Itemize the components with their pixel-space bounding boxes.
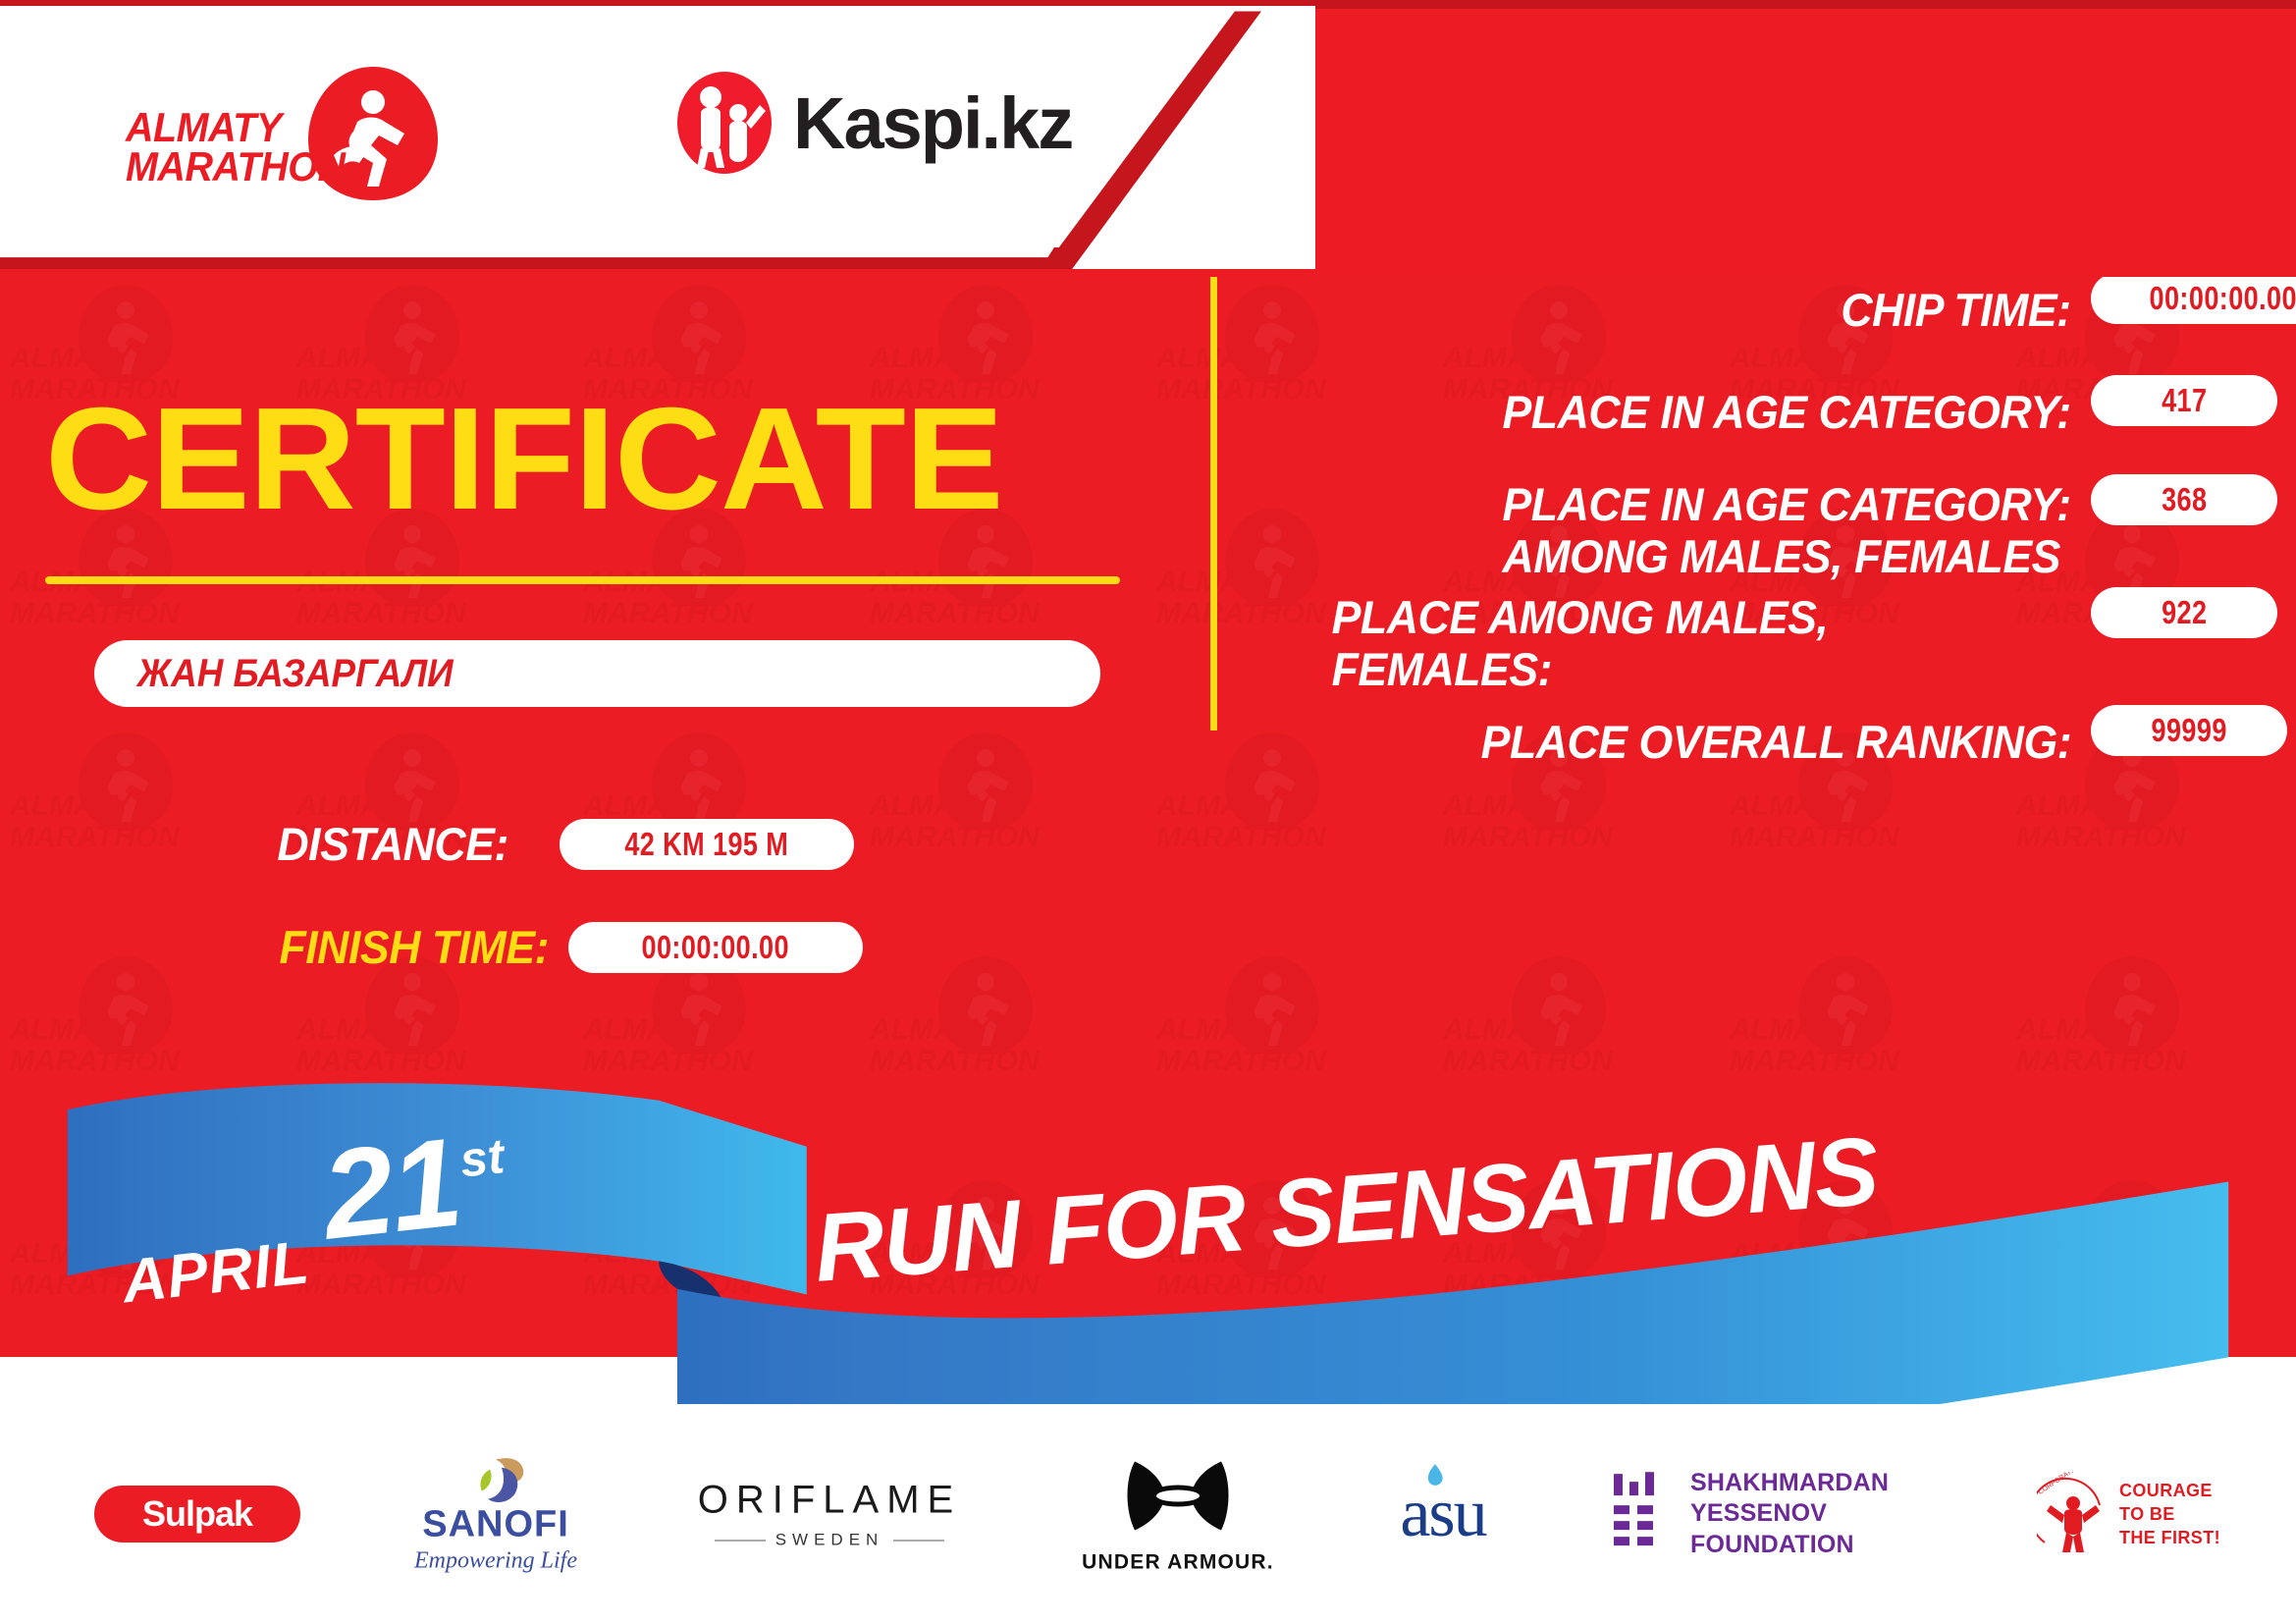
row-distance: DISTANCE: 42 KM 195 M: [265, 817, 854, 871]
sanofi-icon: [398, 1454, 594, 1505]
place-among-gender-value: 922: [2162, 594, 2207, 631]
distance-label: DISTANCE:: [277, 817, 508, 871]
title-underline: [45, 576, 1120, 584]
chip-time-value-pill: 00:00:00.00: [2091, 277, 2296, 324]
yessenov-wordmark: SHAKHMARDAN YESSENOV FOUNDATION: [1690, 1468, 1983, 1560]
chip-time-value: 00:00:00.00: [2150, 280, 2296, 317]
oriflame-rule-right: [893, 1540, 944, 1541]
place-age-category-gender-value-pill: 368: [2091, 474, 2277, 525]
sanofi-wordmark: SANOFI: [398, 1505, 594, 1546]
place-age-category-value-pill: 417: [2091, 375, 2277, 426]
row-place-among-gender: PLACE AMONG MALES, FEMALES: 922: [1306, 591, 2071, 709]
logo-line-marathon: MARATHON: [126, 147, 319, 187]
courage-child-icon: CORPORATE FUND: [2037, 1472, 2109, 1556]
finish-time-label: FINISH TIME:: [279, 920, 549, 974]
asu-drop-icon: [1419, 1462, 1449, 1488]
row-place-age-category: PLACE IN AGE CATEGORY: 417: [1306, 379, 2071, 438]
sanofi-tagline: Empowering Life: [398, 1547, 594, 1574]
yessenov-icon: [1610, 1472, 1667, 1556]
sulpak-wordmark: Sulpak: [142, 1493, 252, 1535]
distance-value: 42 KM 195 M: [624, 826, 788, 863]
place-age-category-value: 417: [2162, 382, 2207, 419]
courage-wordmark: COURAGE TO BE THE FIRST!: [2119, 1479, 2220, 1550]
sponsor-courage-fund: CORPORATE FUND COURAGE TO BE THE FIRST!: [2037, 1472, 2233, 1556]
kaspi-figures-icon: [677, 72, 772, 174]
place-age-category-label: PLACE IN AGE CATEGORY:: [1503, 386, 2071, 438]
certificate-page: ALMATY MARATHON Kaspi.kz: [0, 0, 2296, 1624]
event-day-ordinal: st: [457, 1127, 507, 1188]
place-overall-label: PLACE OVERALL RANKING:: [1481, 716, 2071, 768]
place-overall-value-pill: 99999: [2091, 705, 2287, 756]
sponsor-sulpak: Sulpak: [94, 1486, 300, 1543]
place-among-gender-value-pill: 922: [2091, 587, 2277, 638]
oriflame-wordmark: ORIFLAME: [692, 1479, 967, 1523]
participant-name-field: ЖАН БАЗАРГАЛИ: [94, 640, 1100, 707]
under-armour-icon: [1117, 1454, 1239, 1539]
oriflame-sub-text: SWEDEN: [775, 1531, 884, 1550]
oriflame-rule-left: [715, 1540, 766, 1541]
chip-time-label: CHIP TIME:: [1842, 284, 2071, 336]
row-finish-time: FINISH TIME: 00:00:00.00: [265, 920, 863, 974]
logo-line-almaty: ALMATY: [126, 108, 319, 147]
sponsor-asu: asu: [1364, 1480, 1522, 1548]
asu-wordmark: asu: [1364, 1480, 1522, 1548]
sponsor-oriflame: ORIFLAME SWEDEN: [692, 1479, 967, 1550]
sponsor-sanofi: SANOFI Empowering Life: [398, 1454, 594, 1575]
place-age-category-gender-label: PLACE IN AGE CATEGORY: AMONG MALES, FEMA…: [1503, 478, 2071, 582]
page-title: CERTIFICATE: [45, 387, 1003, 532]
row-chip-time: CHIP TIME: 00:00:00.00: [1306, 277, 2071, 336]
distance-value-pill: 42 KM 195 M: [560, 819, 854, 870]
almaty-marathon-logo: ALMATY MARATHON: [126, 61, 450, 218]
vertical-divider: [1210, 277, 1217, 731]
sponsor-bar: Sulpak SANOFI Empowering Life ORIFLAME S…: [0, 1404, 2296, 1624]
finish-time-value-pill: 00:00:00.00: [568, 922, 863, 973]
participant-name-value: ЖАН БАЗАРГАЛИ: [137, 652, 454, 696]
place-among-gender-label: PLACE AMONG MALES, FEMALES:: [1332, 591, 1829, 695]
row-place-age-category-gender: PLACE IN AGE CATEGORY: AMONG MALES, FEMA…: [1306, 478, 2071, 596]
sponsor-under-armour: UNDER ARMOUR.: [1075, 1454, 1281, 1575]
sponsor-yessenov-foundation: SHAKHMARDAN YESSENOV FOUNDATION: [1610, 1468, 1983, 1560]
place-age-category-gender-value: 368: [2162, 481, 2207, 518]
under-armour-wordmark: UNDER ARMOUR.: [1075, 1551, 1281, 1575]
finish-time-value: 00:00:00.00: [642, 929, 789, 966]
event-day: 21: [316, 1110, 466, 1268]
kaspi-logo: Kaspi.kz: [677, 69, 1072, 177]
kaspi-wordmark: Kaspi.kz: [793, 81, 1072, 165]
place-overall-value: 99999: [2151, 712, 2226, 749]
almaty-marathon-wordmark: ALMATY MARATHON: [126, 108, 332, 188]
row-place-overall: PLACE OVERALL RANKING: 99999: [1306, 709, 2071, 768]
